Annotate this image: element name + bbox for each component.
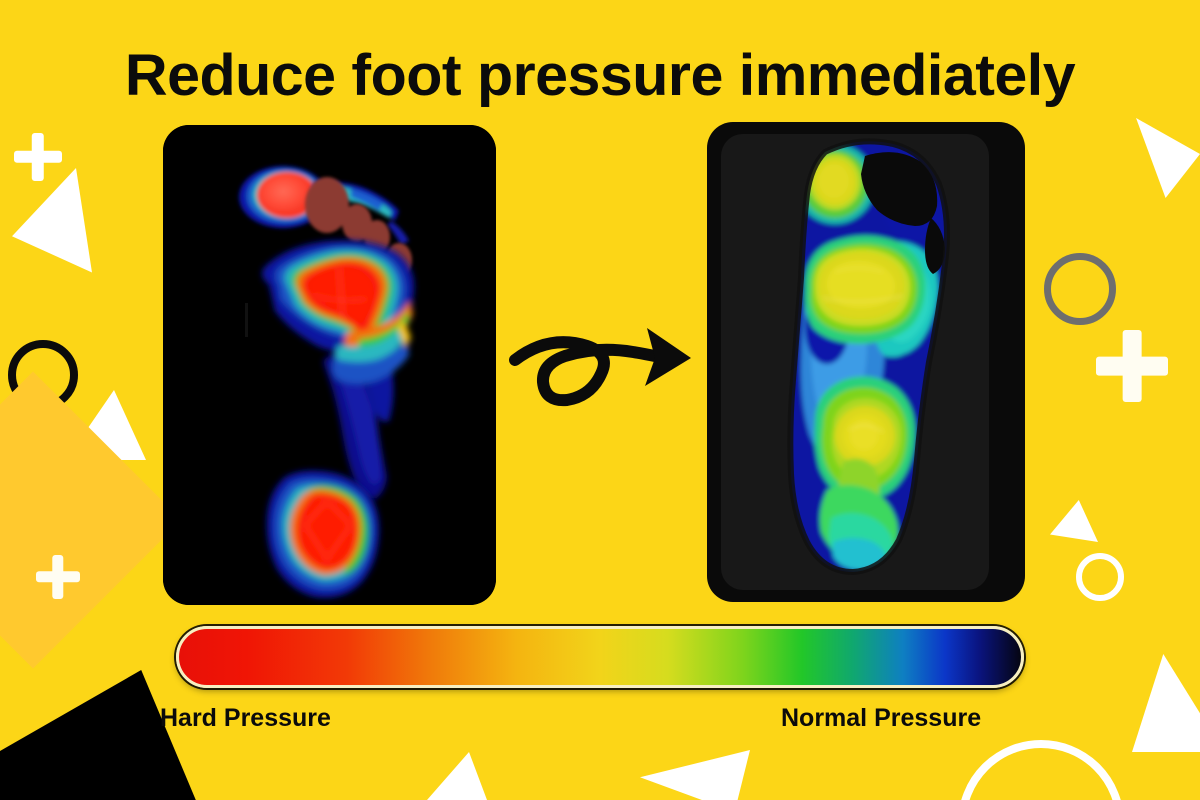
triangle-bottom-center-b: [640, 750, 750, 800]
triangle-bottom-center-a: [420, 752, 490, 800]
black-wedge-bottom-left: [0, 670, 200, 800]
ring-small-bottom-right: [1076, 553, 1124, 601]
scale-label-hard: Hard Pressure: [160, 704, 331, 733]
plus-top-left: [14, 133, 62, 181]
page-title: Reduce foot pressure immediately: [0, 46, 1200, 107]
before-foot-scan-graphic: [163, 125, 496, 605]
curly-right-arrow: [505, 312, 705, 422]
pressure-gradient-bar: [176, 626, 1024, 688]
triangle-bottom-right: [1132, 654, 1200, 752]
diamond-bottom-left: [0, 372, 181, 669]
after-foot-scan-graphic: [707, 122, 1025, 602]
ring-upper-right: [1044, 253, 1116, 325]
after-pressure-map[interactable]: [707, 122, 1025, 602]
pressure-scale: [176, 626, 1024, 688]
plus-right: [1096, 330, 1168, 402]
triangle-upper-left: [12, 168, 92, 278]
triangle-right-lower: [1050, 500, 1098, 542]
plus-on-diamond: [36, 555, 80, 599]
arrow-icon: [505, 312, 705, 422]
ring-large-bottom-right: [958, 740, 1124, 800]
poster-canvas: Reduce foot pressure immediately: [0, 0, 1200, 800]
triangle-upper-right: [1118, 118, 1200, 198]
before-pressure-map[interactable]: [163, 125, 496, 605]
scale-label-normal: Normal Pressure: [781, 704, 981, 733]
